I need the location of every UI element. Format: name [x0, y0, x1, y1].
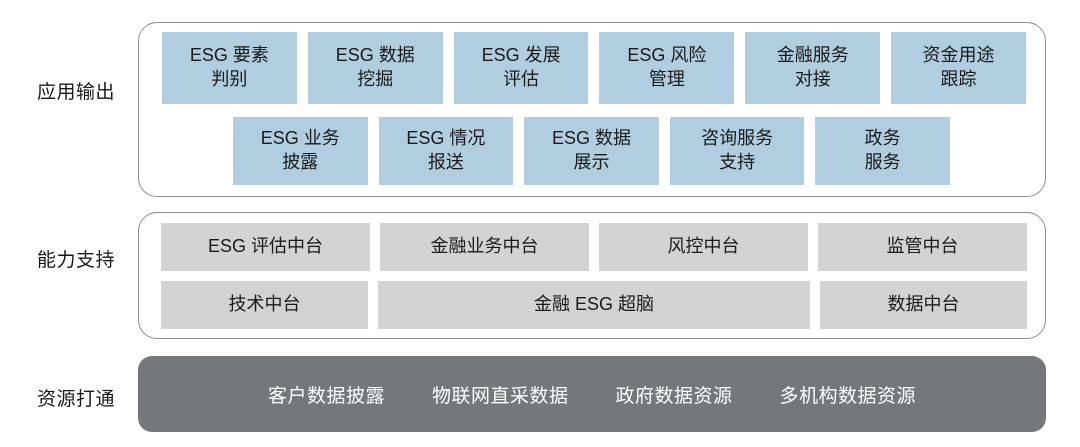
capability-tile[interactable]: 监管中台: [818, 223, 1027, 271]
resource-item[interactable]: 物联网直采数据: [432, 381, 569, 408]
capability-support-row-2: 技术中台 金融 ESG 超脑 数据中台: [161, 281, 1027, 329]
capability-tile[interactable]: ESG 评估中台: [161, 223, 370, 271]
resource-item[interactable]: 政府数据资源: [616, 381, 733, 408]
resource-item-list: 客户数据披露 物联网直采数据 政府数据资源 多机构数据资源: [268, 381, 916, 408]
layer-label-resource: 资源打通: [22, 384, 130, 411]
capability-tile[interactable]: 数据中台: [820, 281, 1027, 329]
capability-tile[interactable]: 技术中台: [161, 281, 368, 329]
application-tile[interactable]: ESG 数据 展示: [524, 117, 659, 185]
application-tile[interactable]: ESG 风险 管理: [599, 32, 734, 104]
application-output-row-2: ESG 业务 披露 ESG 情况 报送 ESG 数据 展示 咨询服务 支持 政务…: [233, 117, 950, 185]
application-tile[interactable]: 资金用途 跟踪: [891, 32, 1026, 104]
application-tile[interactable]: ESG 数据 挖掘: [308, 32, 443, 104]
capability-tile[interactable]: 金融业务中台: [380, 223, 589, 271]
application-tile[interactable]: ESG 业务 披露: [233, 117, 368, 185]
resource-integration-bar: 客户数据披露 物联网直采数据 政府数据资源 多机构数据资源: [138, 356, 1046, 432]
application-tile[interactable]: 咨询服务 支持: [670, 117, 805, 185]
resource-item[interactable]: 多机构数据资源: [780, 381, 917, 408]
layer-label-capability: 能力支持: [22, 245, 130, 272]
application-output-row-1: ESG 要素 判别 ESG 数据 挖掘 ESG 发展 评估 ESG 风险 管理 …: [162, 32, 1026, 104]
application-tile[interactable]: 金融服务 对接: [745, 32, 880, 104]
architecture-diagram: 应用输出 能力支持 资源打通 ESG 要素 判别 ESG 数据 挖掘 ESG 发…: [0, 0, 1080, 447]
application-tile[interactable]: ESG 情况 报送: [379, 117, 514, 185]
application-tile[interactable]: ESG 发展 评估: [454, 32, 589, 104]
capability-tile[interactable]: 金融 ESG 超脑: [378, 281, 810, 329]
capability-tile[interactable]: 风控中台: [599, 223, 808, 271]
application-tile[interactable]: ESG 要素 判别: [162, 32, 297, 104]
capability-support-row-1: ESG 评估中台 金融业务中台 风控中台 监管中台: [161, 223, 1027, 271]
resource-item[interactable]: 客户数据披露: [268, 381, 385, 408]
layer-label-application: 应用输出: [22, 77, 130, 104]
application-tile[interactable]: 政务 服务: [815, 117, 950, 185]
